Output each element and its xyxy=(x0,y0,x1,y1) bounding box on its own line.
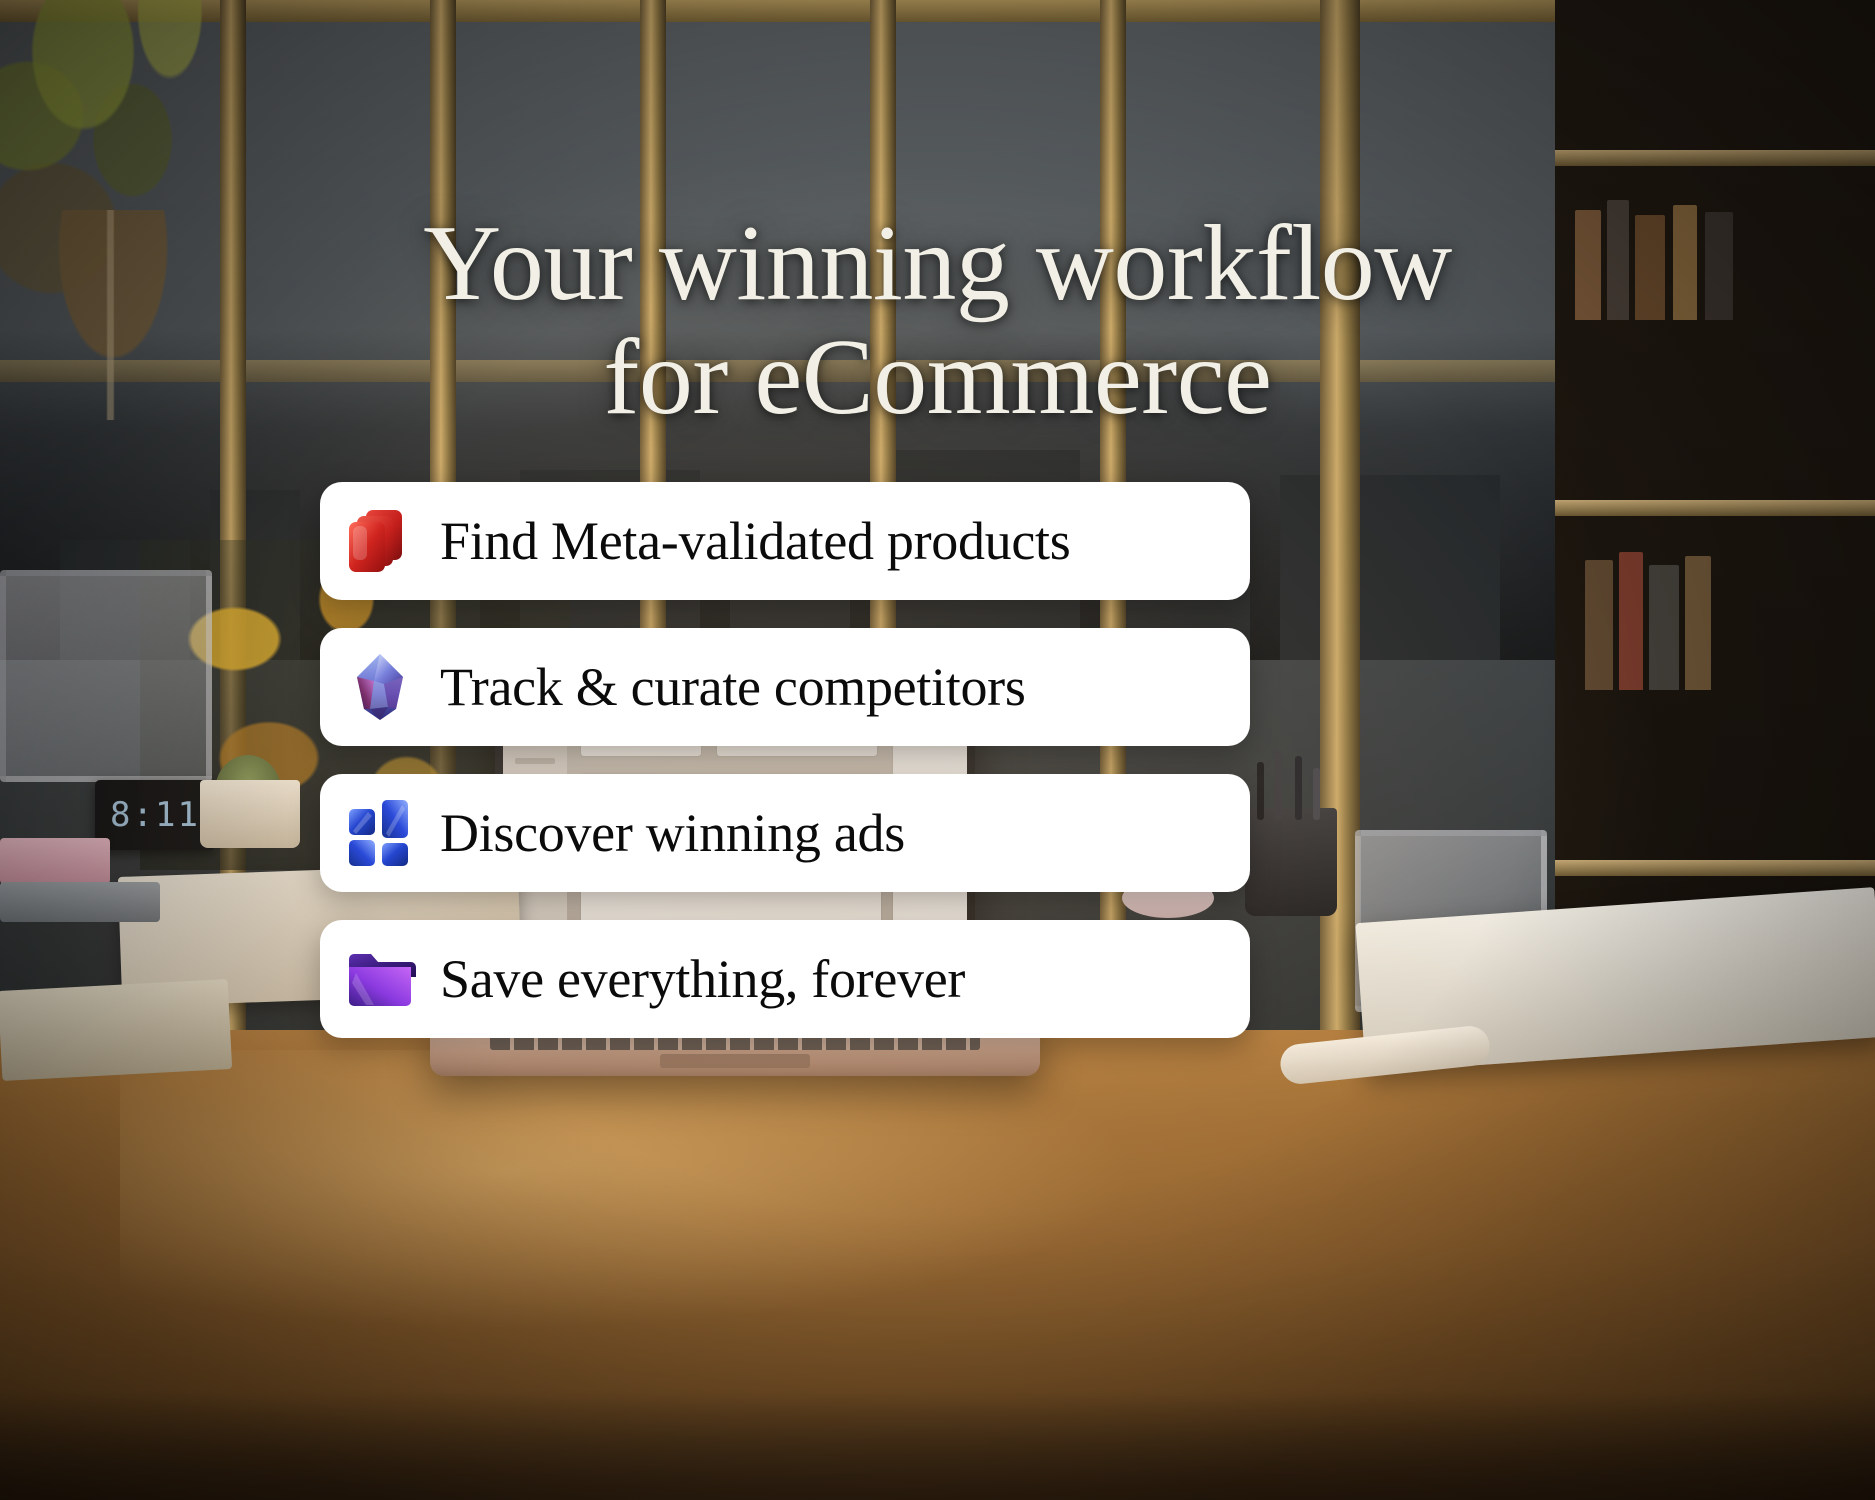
headline-line-2: for eCommerce xyxy=(0,321,1875,434)
blue-purple-crystal-gem-icon xyxy=(344,651,416,723)
purple-folder-icon xyxy=(344,943,416,1015)
feature-card-track-competitors[interactable]: Track & curate competitors xyxy=(320,628,1250,746)
feature-card-label: Track & curate competitors xyxy=(440,660,1026,714)
feature-card-find-products[interactable]: Find Meta-validated products xyxy=(320,482,1250,600)
page-title: Your winning workflow for eCommerce xyxy=(0,207,1875,434)
blue-grid-dashboard-icon xyxy=(344,797,416,869)
feature-card-label: Save everything, forever xyxy=(440,952,965,1006)
feature-card-label: Discover winning ads xyxy=(440,806,905,860)
feature-card-discover-ads[interactable]: Discover winning ads xyxy=(320,774,1250,892)
overlay-content: Your winning workflow for eCommerce xyxy=(0,0,1875,1500)
feature-list: Find Meta-validated products xyxy=(320,482,1250,1038)
promo-image: 8:11 Your winning workflow for eCommerce xyxy=(0,0,1875,1500)
red-stacked-cards-icon xyxy=(344,505,416,577)
feature-card-save-everything[interactable]: Save everything, forever xyxy=(320,920,1250,1038)
feature-card-label: Find Meta-validated products xyxy=(440,514,1070,568)
headline-line-1: Your winning workflow xyxy=(0,207,1875,320)
